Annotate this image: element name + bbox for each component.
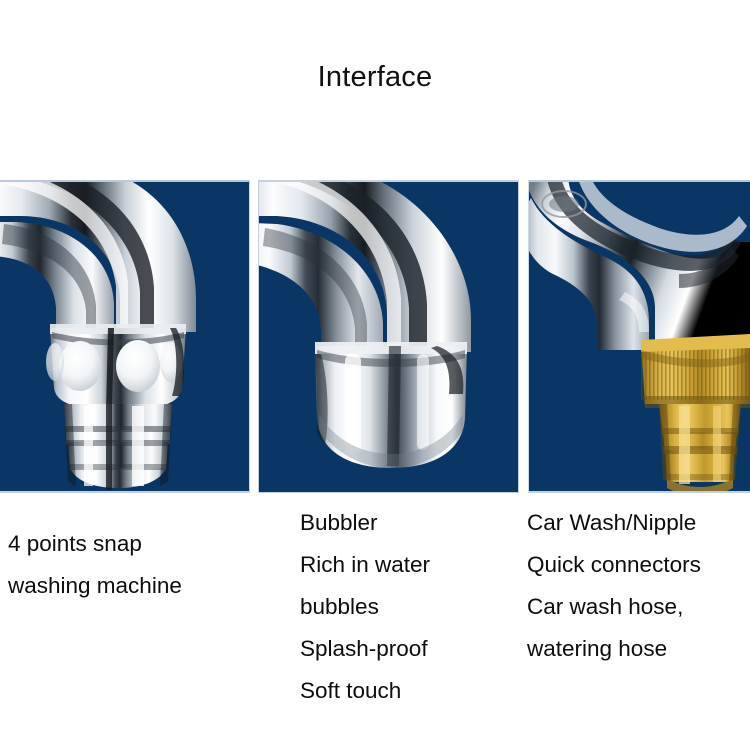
caption-column-2: Bubbler Rich in water bubbles Splash-pro… [300,502,430,712]
caption-line: Car Wash/Nipple [527,502,701,544]
product-image-panel-car-wash-nipple [528,180,750,493]
caption-line: Soft touch [300,670,430,712]
faucet-brass-nipple-illustration [529,182,750,491]
caption-line: Splash-proof [300,628,430,670]
caption-column-1: 4 points snap washing machine [8,523,182,607]
faucet-snap-illustration [0,182,249,491]
caption-line: 4 points snap [8,523,182,565]
caption-line: watering hose [527,628,701,670]
product-image-row [0,180,750,493]
page-title: Interface [0,58,750,96]
caption-line: Car wash hose, [527,586,701,628]
product-image-panel-four-point-snap [0,180,250,493]
caption-line: Bubbler [300,502,430,544]
caption-column-3: Car Wash/Nipple Quick connectors Car was… [527,502,701,670]
product-image-panel-bubbler [258,180,519,493]
caption-line: Rich in water [300,544,430,586]
caption-line: bubbles [300,586,430,628]
caption-line: washing machine [8,565,182,607]
caption-line: Quick connectors [527,544,701,586]
faucet-bubbler-illustration [259,182,518,492]
